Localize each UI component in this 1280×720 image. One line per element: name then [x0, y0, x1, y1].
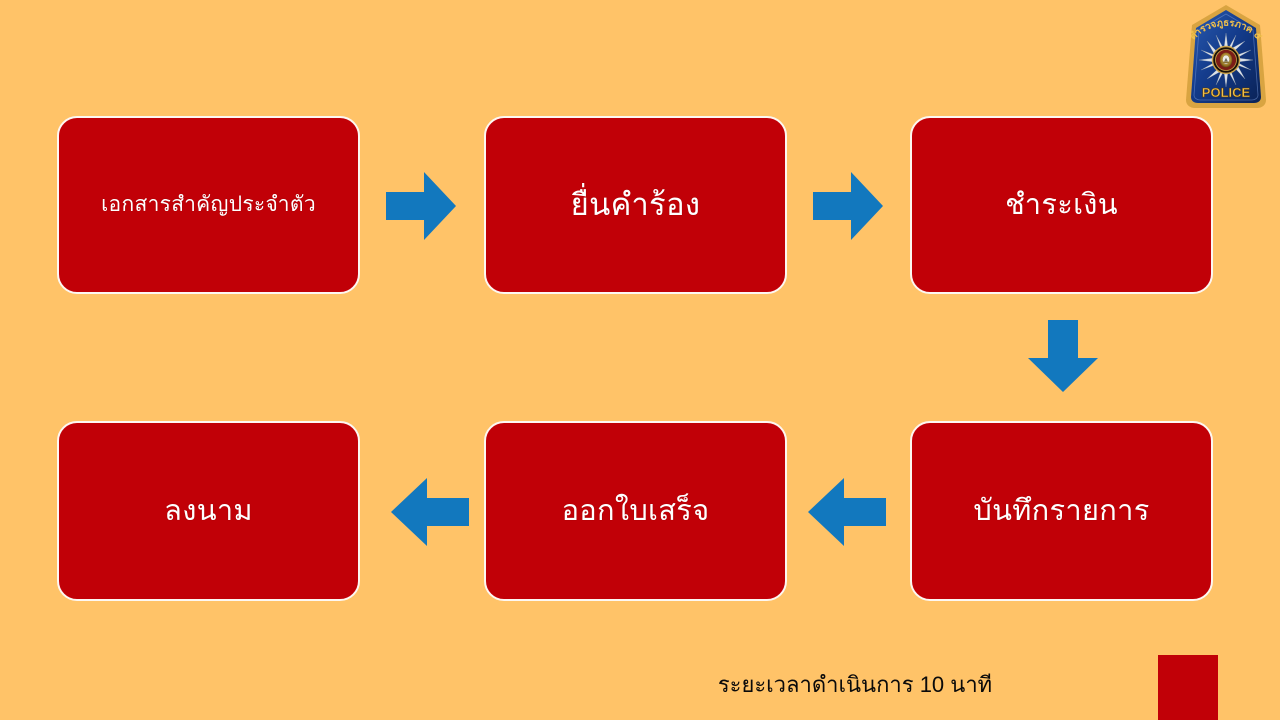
process-step-label: เอกสารสำคัญประจำตัว — [91, 192, 326, 218]
arrow-left-icon — [391, 476, 469, 548]
process-step-box-4[interactable]: บันทึกรายการ — [910, 421, 1213, 601]
process-step-box-5[interactable]: ออกใบเสร็จ — [484, 421, 787, 601]
process-step-label: ชำระเงิน — [995, 187, 1128, 223]
process-step-label: บันทึกรายการ — [963, 493, 1159, 529]
process-step-label: ยื่นคำร้อง — [561, 186, 711, 225]
process-step-box-1[interactable]: เอกสารสำคัญประจำตัว — [57, 116, 360, 294]
arrow-right-icon — [813, 170, 883, 242]
arrow-down-icon — [1026, 320, 1100, 392]
badge-bottom-text: POLICE — [1202, 85, 1251, 100]
duration-caption: ระยะเวลาดำเนินการ 10 นาที — [700, 672, 1010, 698]
process-step-label: ลงนาม — [154, 493, 263, 529]
process-step-box-2[interactable]: ยื่นคำร้อง — [484, 116, 787, 294]
arrow-left-icon — [808, 476, 886, 548]
process-step-box-3[interactable]: ชำระเงิน — [910, 116, 1213, 294]
arrow-right-icon — [386, 170, 456, 242]
process-step-label: ออกใบเสร็จ — [552, 493, 720, 529]
corner-red-block — [1158, 655, 1218, 720]
slide-canvas: ตำรวจภูธรภาค ๕ — [0, 0, 1280, 720]
police-shield-badge-icon: ตำรวจภูธรภาค ๕ — [1174, 2, 1278, 112]
process-step-box-6[interactable]: ลงนาม — [57, 421, 360, 601]
